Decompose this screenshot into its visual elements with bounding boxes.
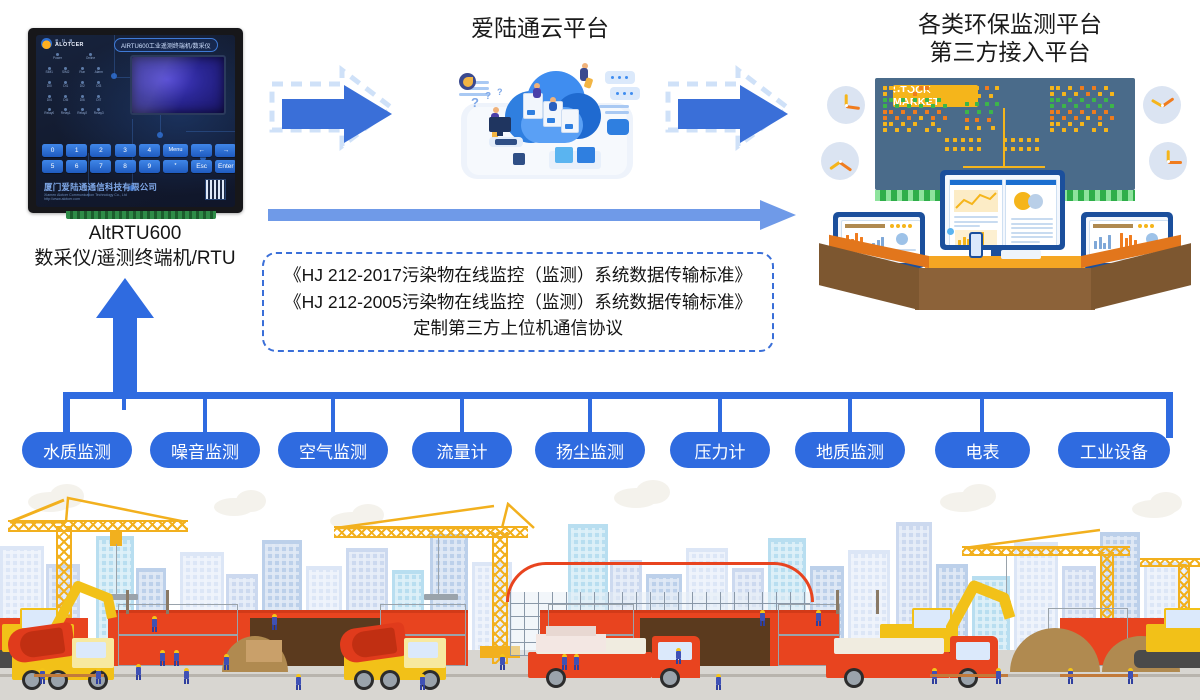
led-label: Relay2 [74, 112, 91, 115]
wall-clock-icon [1143, 86, 1181, 124]
wall-clock-icon [827, 86, 865, 124]
device-model-badge: AIRTU600工业遥测终端机/数采仪 [114, 38, 218, 52]
led-label: Relay3 [91, 112, 108, 115]
protocol-line: 《HJ 212-2005污染物在线监控（监测）系统数据传输标准》 [284, 290, 752, 315]
brand-name-en: ALOTCER [55, 43, 84, 49]
led-label: DI4 [41, 99, 58, 102]
protocol-line: 定制第三方上位机通信协议 [413, 316, 623, 341]
question-mark-icon: ? [497, 87, 503, 97]
wall-clock-icon [1149, 142, 1187, 180]
keypad-enter-key[interactable]: Enter [215, 160, 235, 173]
device-brand: 爱 陆 通 ALOTCER [41, 38, 84, 49]
wall-clock-icon [821, 142, 859, 180]
long-right-arrow-icon [268, 200, 796, 230]
desk-monitor-icon [489, 117, 511, 132]
tree-right-edge [1166, 392, 1173, 438]
keypad-left-key[interactable]: ← [191, 144, 212, 157]
device-pill-geology[interactable]: 地质监测 [795, 432, 905, 468]
chat-bubble-icon [610, 87, 640, 100]
led-label: SIM1 [41, 71, 58, 74]
led-label: Online [74, 57, 107, 60]
device-port-strip [66, 211, 216, 219]
alotcer-logo-icon [41, 38, 52, 49]
cloud-platform-illustration: ? ? ? [455, 55, 645, 185]
rtu-front-panel: 爱 陆 通 ALOTCER AIRTU600工业遥测终端机/数采仪 Power … [36, 35, 235, 207]
device-pill-dust[interactable]: 扬尘监测 [535, 432, 645, 468]
led-label: DI2 [74, 85, 91, 88]
led-label: DI0 [41, 85, 58, 88]
keypad-key[interactable]: 4 [139, 144, 160, 157]
chat-bubble-icon [607, 119, 629, 135]
device-pill-electric-meter[interactable]: 电表 [935, 432, 1030, 468]
smartphone-icon [969, 232, 983, 258]
desk-front-panel [915, 268, 1095, 310]
led-label: SIM2 [58, 71, 75, 74]
blue-arrow-icon-1 [282, 85, 394, 143]
blue-arrow-icon-2 [678, 85, 790, 143]
led-label: Relay1 [58, 112, 75, 115]
chat-bubble-icon [605, 71, 635, 84]
question-mark-icon: ? [471, 95, 479, 110]
led-label: DI1 [58, 85, 75, 88]
keypad-right-key[interactable]: → [215, 144, 235, 157]
keypad-key[interactable]: 9 [139, 160, 160, 173]
device-pill-noise[interactable]: 噪音监测 [150, 432, 260, 468]
device-caption: AltRTU600 数采仪/遥测终端机/RTU [10, 222, 260, 271]
device-led-indicators: Power Online SIM1 SIM2 Run Alarm DI0 DI1… [41, 53, 107, 122]
led-label: Run [74, 71, 91, 74]
keypad-key[interactable]: 8 [115, 160, 136, 173]
device-pill-air[interactable]: 空气监测 [278, 432, 388, 468]
protocol-line: 《HJ 212-2017污染物在线监控（监测）系统数据传输标准》 [284, 263, 752, 288]
keypad-key[interactable]: 6 [66, 160, 87, 173]
device-lcd-screen [130, 55, 226, 115]
led-label: DI3 [91, 85, 108, 88]
device-pill-water-quality[interactable]: 水质监测 [22, 432, 132, 468]
qr-code-icon [205, 179, 226, 200]
device-pill-pressure-gauge[interactable]: 压力计 [670, 432, 770, 468]
led-label: DI7 [91, 99, 108, 102]
construction-site-illustration [0, 478, 1200, 700]
keypad-key[interactable]: 0 [42, 144, 63, 157]
keypad-esc-key[interactable]: Esc [191, 160, 212, 173]
keypad-key[interactable]: 7 [90, 160, 111, 173]
device-company-info: 厦门爱陆通通信科技有限公司 Xiamen Alotcer Communicati… [44, 183, 157, 201]
keypad-star-key[interactable]: * [163, 160, 188, 173]
device-pill-industrial[interactable]: 工业设备 [1058, 432, 1170, 468]
right-platform-title-line1: 各类环保监测平台 [845, 10, 1175, 39]
center-monitor [940, 170, 1065, 250]
led-label: DI6 [74, 99, 91, 102]
rtu-device: 爱 陆 通 ALOTCER AIRTU600工业遥测终端机/数采仪 Power … [28, 28, 243, 213]
led-label: Relay0 [41, 112, 58, 115]
company-url: http://www.alotcer.com [44, 197, 157, 201]
monitoring-platform-illustration: STOCK MARKET [805, 60, 1200, 360]
led-label: Alarm [91, 71, 108, 74]
question-mark-icon: ? [485, 91, 491, 102]
keypad-key[interactable]: 1 [66, 144, 87, 157]
blue-up-arrow-icon [94, 278, 156, 396]
company-name-cn: 厦门爱陆通通信科技有限公司 [44, 183, 157, 193]
device-model-name: AltRTU600 [10, 222, 260, 247]
keypad-menu-key[interactable]: Menu [163, 144, 188, 157]
keypad-key[interactable]: 3 [115, 144, 136, 157]
keypad-key[interactable]: 5 [42, 160, 63, 173]
tree-bus-line [63, 392, 1173, 399]
diagram-canvas: 爱 陆 通 ALOTCER AIRTU600工业遥测终端机/数采仪 Power … [0, 0, 1200, 700]
device-pill-flow-meter[interactable]: 流量计 [412, 432, 512, 468]
device-type-name: 数采仪/遥测终端机/RTU [10, 247, 260, 272]
protocol-standards-box: 《HJ 212-2017污染物在线监控（监测）系统数据传输标准》 《HJ 212… [262, 252, 774, 352]
device-keypad[interactable]: 0 1 2 3 4 Menu ← → 5 6 7 8 9 * Esc [42, 144, 235, 176]
led-label: Power [41, 57, 74, 60]
keypad-key[interactable]: 2 [90, 144, 111, 157]
led-label: DI5 [58, 99, 75, 102]
cloud-platform-title: 爱陆通云平台 [430, 14, 650, 43]
